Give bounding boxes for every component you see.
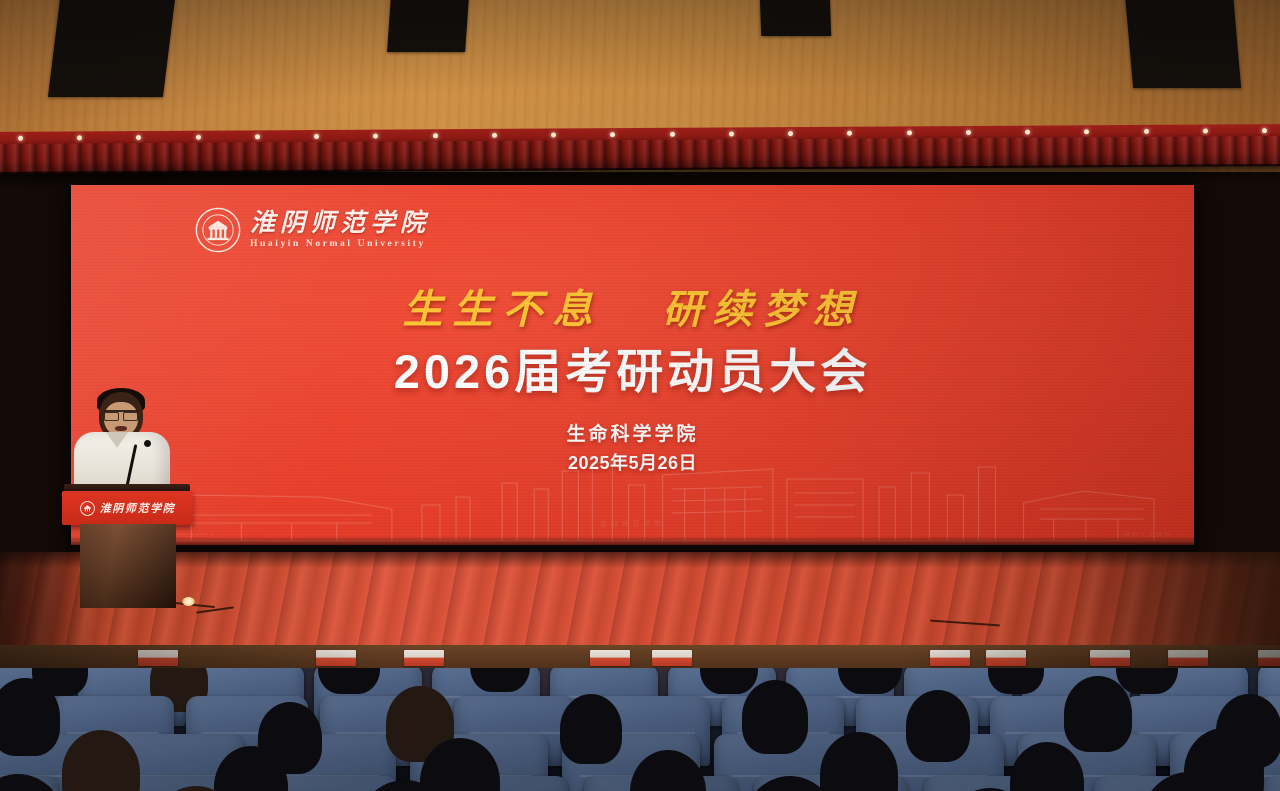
event-organizer: 生命科学学院 xyxy=(71,419,1194,446)
screen-bottom-shadow xyxy=(71,536,1194,545)
speaker-mouth xyxy=(115,426,127,431)
auditorium-scene: 淮阴师范学院 Huaiyin Normal University 生生不息 研续… xyxy=(0,0,1280,791)
event-date: 2025年5月26日 xyxy=(71,449,1194,475)
podium-and-speaker: 淮阴师范学院 xyxy=(58,388,198,620)
podium-seal-icon xyxy=(80,501,95,516)
university-name-en: Huaiyin Normal University xyxy=(250,239,430,249)
event-tagline: 生生不息 研续梦想 xyxy=(71,277,1194,335)
podium-label: 淮阴师范学院 xyxy=(100,500,176,516)
university-seal-icon xyxy=(195,207,241,253)
event-main-title: 2026届考研动员大会 xyxy=(71,333,1194,402)
audience-member xyxy=(560,694,622,764)
audience-seating xyxy=(0,668,1280,791)
led-screen-frame: 淮阴师范学院 Huaiyin Normal University 生生不息 研续… xyxy=(66,180,1199,552)
lectern-front-panel: 淮阴师范学院 xyxy=(62,491,193,525)
glasses-icon xyxy=(104,410,138,417)
university-logo: 淮阴师范学院 Huaiyin Normal University xyxy=(195,207,430,253)
skyline-caption: 淮阴师范学院 xyxy=(71,519,1194,529)
university-name-cn: 淮阴师范学院 xyxy=(250,211,430,237)
audience-member xyxy=(742,680,808,754)
stage-valance-curtain xyxy=(0,128,1280,176)
audience-member xyxy=(1064,676,1132,752)
led-screen: 淮阴师范学院 Huaiyin Normal University 生生不息 研续… xyxy=(71,185,1194,545)
microphone-head-icon xyxy=(144,440,151,447)
lectern-body-sheen xyxy=(80,524,176,608)
audience-member xyxy=(906,690,970,762)
